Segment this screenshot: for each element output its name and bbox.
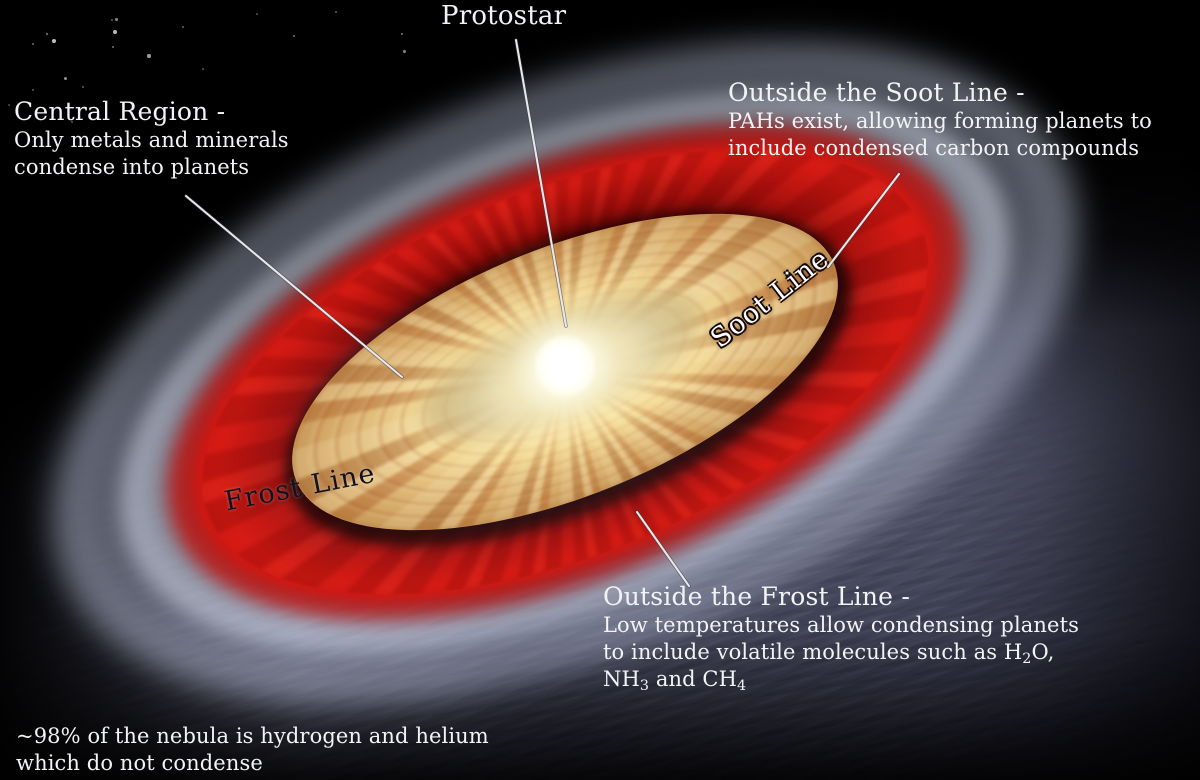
text-line: to include volatile molecules such as H2… — [603, 639, 1079, 666]
text-line: Only metals and minerals — [14, 127, 289, 154]
callout-outside-frost-line-heading: Outside the Frost Line - — [603, 583, 1079, 612]
text-line: which do not condense — [16, 750, 489, 777]
text-line: condense into planets — [14, 154, 289, 181]
callout-central-region: Central Region - Only metals and mineral… — [14, 98, 289, 181]
text-line: include condensed carbon compounds — [728, 135, 1152, 162]
callout-protostar-heading: Protostar — [441, 2, 566, 32]
star — [115, 18, 118, 21]
callout-central-region-body: Only metals and mineralscondense into pl… — [14, 127, 289, 182]
star — [147, 54, 150, 57]
callout-outside-soot-line-body: PAHs exist, allowing forming planets toi… — [728, 108, 1152, 163]
footnote-nebula-composition-body: ~98% of the nebula is hydrogen and heliu… — [16, 723, 489, 778]
callout-outside-soot-line: Outside the Soot Line - PAHs exist, allo… — [728, 79, 1152, 162]
star — [52, 39, 56, 43]
callout-outside-frost-line: Outside the Frost Line - Low temperature… — [603, 583, 1079, 693]
star — [64, 77, 67, 80]
star — [8, 104, 10, 106]
callout-outside-soot-line-heading: Outside the Soot Line - — [728, 79, 1152, 108]
star — [403, 50, 406, 53]
text-line: Low temperatures allow condensing planet… — [603, 612, 1079, 639]
diagram-canvas: Soot Line Frost Line Central Region - On… — [0, 0, 1200, 780]
star — [256, 13, 258, 15]
text-line: ~98% of the nebula is hydrogen and heliu… — [16, 723, 489, 750]
footnote-nebula-composition: ~98% of the nebula is hydrogen and heliu… — [16, 723, 489, 778]
callout-outside-frost-line-body: Low temperatures allow condensing planet… — [603, 612, 1079, 694]
text-line: PAHs exist, allowing forming planets to — [728, 108, 1152, 135]
callout-protostar: Protostar — [441, 2, 566, 32]
protostar-core — [535, 336, 595, 396]
star — [113, 30, 117, 34]
callout-central-region-heading: Central Region - — [14, 98, 289, 127]
text-line: NH3 and CH4 — [603, 666, 1079, 693]
